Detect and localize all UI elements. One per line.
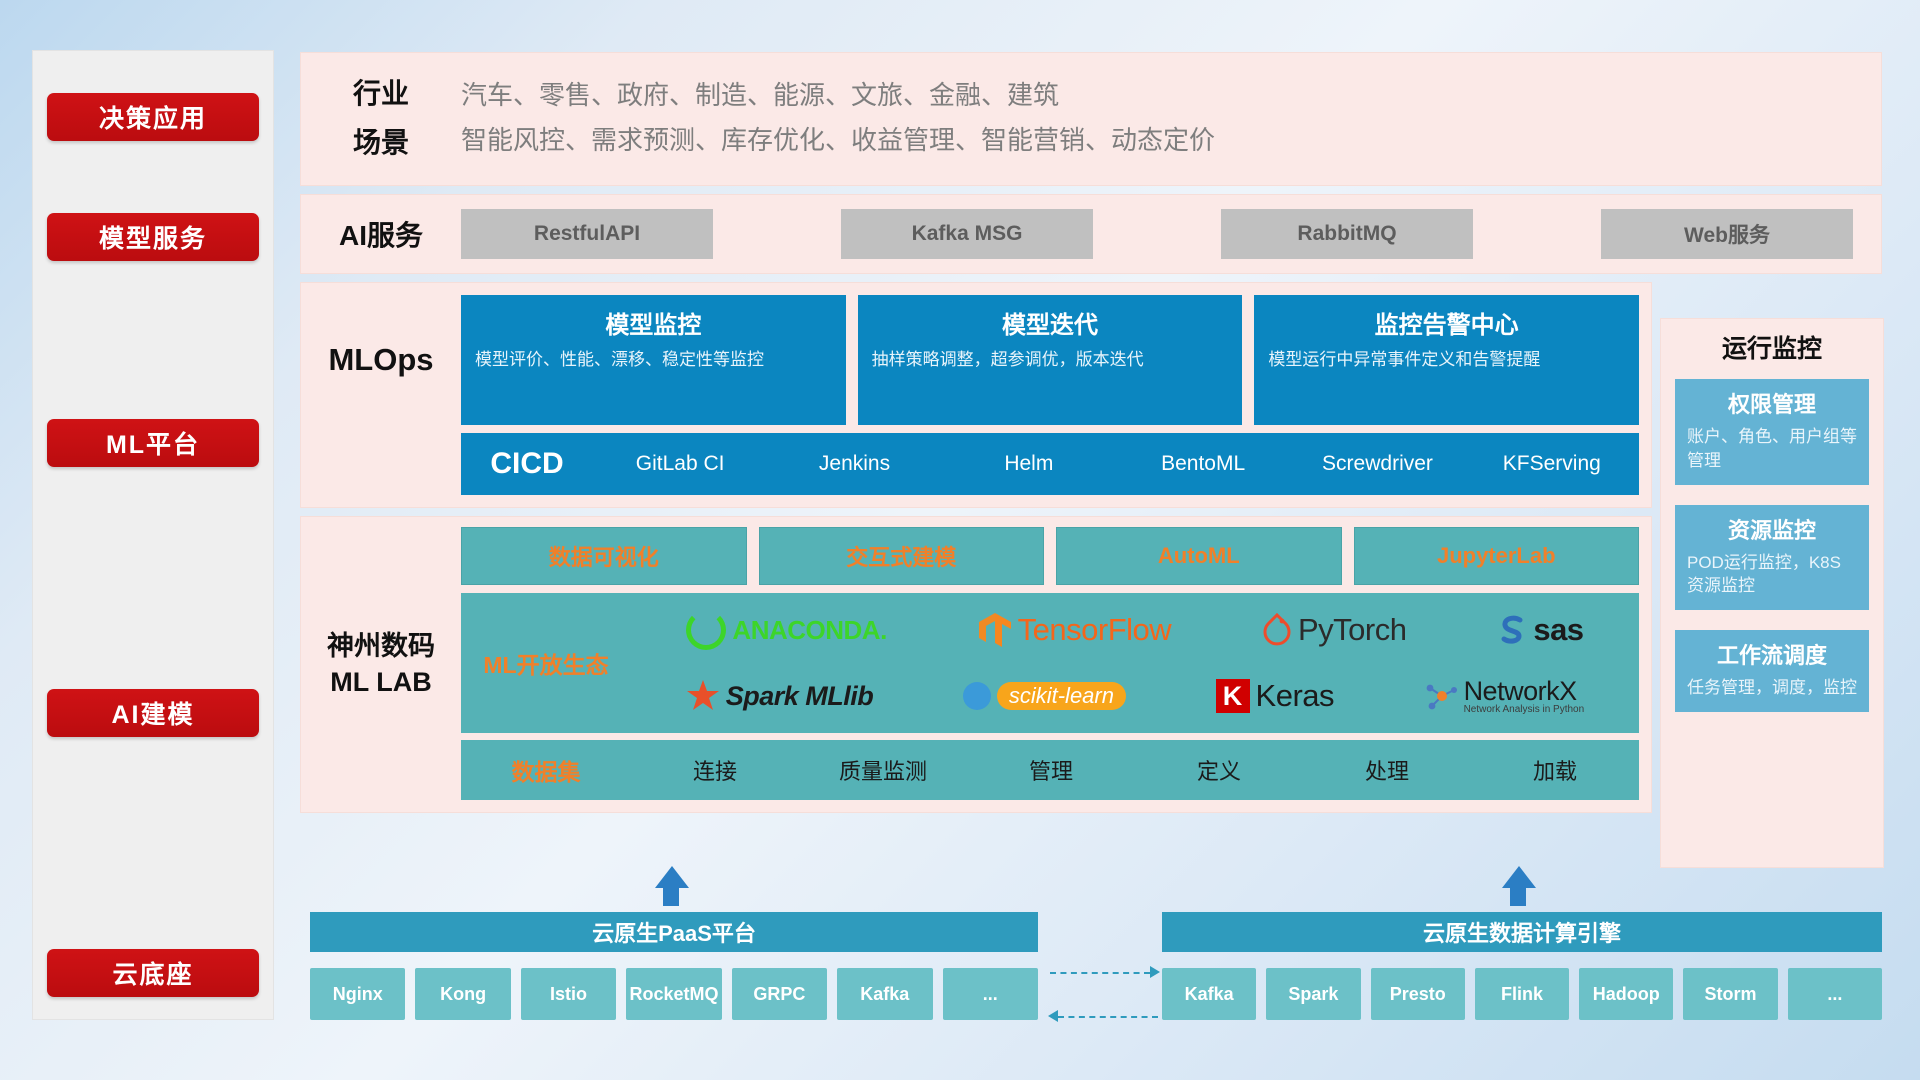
- left-rail: 决策应用 模型服务 ML平台 AI建模 云底座: [32, 50, 274, 1020]
- card-desc: 账户、角色、用户组等管理: [1687, 425, 1857, 473]
- card-desc: 模型运行中异常事件定义和告警提醒: [1268, 348, 1625, 373]
- ml-ecosystem-logos: ANACONDA. TensorFlow: [631, 593, 1639, 733]
- logo-pytorch: PyTorch: [1262, 612, 1406, 648]
- ml-lab-label-line1: 神州数码: [327, 629, 435, 664]
- cicd-tool-helm[interactable]: Helm: [942, 433, 1116, 495]
- dataset-item-manage[interactable]: 管理: [967, 754, 1135, 786]
- industry-scenario-band: 行业 场景 汽车、零售、政府、制造、能源、文旅、金融、建筑 智能风控、需求预测、…: [300, 52, 1882, 186]
- card-title: 监控告警中心: [1268, 305, 1625, 340]
- engine-tag-hadoop[interactable]: Hadoop: [1579, 968, 1673, 1020]
- logo-sas: sas: [1497, 612, 1583, 648]
- arrow-up-paas-icon: [655, 866, 689, 888]
- rail-label: 决策应用: [99, 99, 207, 135]
- dataset-item-load[interactable]: 加载: [1471, 754, 1639, 786]
- mlops-label: MLOps: [301, 295, 461, 425]
- logo-label: PyTorch: [1298, 612, 1406, 648]
- logo-anaconda: ANACONDA.: [686, 610, 886, 650]
- logo-row-1: ANACONDA. TensorFlow: [641, 599, 1629, 661]
- rail-label: 云底座: [112, 955, 193, 991]
- cloud-base-section: 云原生PaaS平台 Nginx Kong Istio RocketMQ GRPC…: [310, 888, 1882, 1058]
- dataset-item-connect[interactable]: 连接: [631, 754, 799, 786]
- main-column: 行业 场景 汽车、零售、政府、制造、能源、文旅、金融、建筑 智能风控、需求预测、…: [300, 52, 1882, 821]
- chip-label: Kafka MSG: [912, 222, 1023, 246]
- logo-row-2: Spark MLlib scikit-learn K Keras: [641, 665, 1629, 727]
- ai-service-chip-restfulapi[interactable]: RestfulAPI: [461, 209, 713, 259]
- card-desc: 模型评价、性能、漂移、稳定性等监控: [475, 348, 832, 373]
- dashed-arrow-left-icon: [1048, 1010, 1058, 1022]
- paas-tag-more[interactable]: ...: [943, 968, 1038, 1020]
- engine-tag-kafka[interactable]: Kafka: [1162, 968, 1256, 1020]
- paas-tag-kafka[interactable]: Kafka: [837, 968, 932, 1020]
- card-title: 资源监控: [1687, 513, 1857, 545]
- monitoring-card-resource[interactable]: 资源监控 POD运行监控，K8S资源监控: [1675, 505, 1869, 611]
- logo-label: NetworkX: [1464, 678, 1585, 705]
- rail-label: ML平台: [106, 425, 200, 461]
- dashed-connector-left: [1058, 1016, 1158, 1018]
- monitoring-panel: 运行监控 权限管理 账户、角色、用户组等管理 资源监控 POD运行监控，K8S资…: [1660, 318, 1884, 868]
- diagram-canvas: 决策应用 模型服务 ML平台 AI建模 云底座 行业 场景 汽车、零售、政府、制…: [0, 0, 1920, 1080]
- networkx-subtitle: Network Analysis in Python: [1464, 705, 1585, 715]
- tab-label: 数据可视化: [549, 540, 659, 572]
- engine-tag-flink[interactable]: Flink: [1475, 968, 1569, 1020]
- ai-service-chip-kafka-msg[interactable]: Kafka MSG: [841, 209, 1093, 259]
- monitoring-title: 运行监控: [1661, 329, 1883, 365]
- logo-spark-mllib: Spark MLlib: [686, 679, 874, 713]
- cicd-tool-screwdriver[interactable]: Screwdriver: [1290, 433, 1464, 495]
- chip-label: RabbitMQ: [1297, 222, 1396, 246]
- rail-item-ai-modeling[interactable]: AI建模: [47, 689, 259, 737]
- card-desc: POD运行监控，K8S资源监控: [1687, 551, 1857, 599]
- card-title: 模型监控: [475, 305, 832, 340]
- logo-label: scikit-learn: [997, 682, 1126, 710]
- rail-label: 模型服务: [99, 219, 207, 255]
- scikit-dot-icon: [963, 682, 991, 710]
- mlops-card-alert-center[interactable]: 监控告警中心 模型运行中异常事件定义和告警提醒: [1254, 295, 1639, 425]
- sas-icon: [1497, 613, 1527, 647]
- industry-scenario-labels: 行业 场景: [301, 69, 461, 167]
- arrow-up-engine-icon: [1502, 866, 1536, 888]
- networkx-icon: [1424, 680, 1458, 712]
- ml-lab-body: 数据可视化 交互式建模 AutoML JupyterLab ML开放生态 ANA…: [461, 517, 1651, 812]
- paas-tag-rocketmq[interactable]: RocketMQ: [626, 968, 721, 1020]
- dataset-item-define[interactable]: 定义: [1135, 754, 1303, 786]
- logo-label: Spark MLlib: [726, 681, 874, 712]
- ai-service-chip-web-service[interactable]: Web服务: [1601, 209, 1853, 259]
- rail-label: AI建模: [111, 695, 194, 731]
- cicd-tool-gitlab-ci[interactable]: GitLab CI: [593, 433, 767, 495]
- ml-lab-band: 神州数码 ML LAB 数据可视化 交互式建模 AutoML JupyterLa…: [300, 516, 1652, 813]
- arrow-stem-paas: [663, 888, 679, 906]
- engine-title: 云原生数据计算引擎: [1162, 912, 1882, 952]
- ml-lab-label-line2: ML LAB: [327, 665, 435, 700]
- engine-tag-presto[interactable]: Presto: [1371, 968, 1465, 1020]
- tensorflow-icon: [978, 611, 1012, 649]
- logo-label: ANACONDA.: [732, 615, 886, 646]
- tab-interactive-modeling[interactable]: 交互式建模: [759, 527, 1045, 585]
- anaconda-icon: [686, 610, 726, 650]
- logo-networkx: NetworkX Network Analysis in Python: [1424, 678, 1585, 715]
- engine-tags: Kafka Spark Presto Flink Hadoop Storm ..…: [1162, 968, 1882, 1020]
- paas-group: 云原生PaaS平台 Nginx Kong Istio RocketMQ GRPC…: [310, 912, 1038, 1020]
- tab-label: 交互式建模: [846, 540, 956, 572]
- tab-label: AutoML: [1158, 543, 1240, 569]
- logo-scikit-learn: scikit-learn: [963, 682, 1126, 710]
- mlops-inner: MLOps 模型监控 模型评价、性能、漂移、稳定性等监控 模型迭代 抽样策略调整…: [301, 283, 1651, 507]
- arrow-stem-engine: [1510, 888, 1526, 906]
- scenario-values: 智能风控、需求预测、库存优化、收益管理、智能营销、动态定价: [461, 118, 1881, 164]
- rail-item-cloud-base[interactable]: 云底座: [47, 949, 259, 997]
- keras-icon: K: [1216, 679, 1250, 713]
- monitoring-card-workflow[interactable]: 工作流调度 任务管理，调度，监控: [1675, 630, 1869, 712]
- mlops-cards-row: MLOps 模型监控 模型评价、性能、漂移、稳定性等监控 模型迭代 抽样策略调整…: [301, 295, 1651, 425]
- ai-service-items: RestfulAPI Kafka MSG RabbitMQ Web服务: [461, 209, 1861, 259]
- mlops-band: MLOps 模型监控 模型评价、性能、漂移、稳定性等监控 模型迭代 抽样策略调整…: [300, 282, 1652, 508]
- tab-automl[interactable]: AutoML: [1056, 527, 1342, 585]
- chip-label: RestfulAPI: [534, 222, 640, 246]
- dataset-label: 数据集: [461, 753, 631, 787]
- industry-label: 行业: [301, 69, 461, 118]
- card-desc: 抽样策略调整，超参调优，版本迭代: [872, 348, 1229, 373]
- scenario-label: 场景: [301, 118, 461, 167]
- paas-tag-grpc[interactable]: GRPC: [732, 968, 827, 1020]
- cicd-tool-jenkins[interactable]: Jenkins: [767, 433, 941, 495]
- dataset-row: 数据集 连接 质量监测 管理 定义 处理 加载: [461, 740, 1639, 800]
- tab-label: JupyterLab: [1437, 543, 1556, 569]
- card-title: 模型迭代: [872, 305, 1229, 340]
- industry-values: 汽车、零售、政府、制造、能源、文旅、金融、建筑: [461, 73, 1881, 119]
- pytorch-icon: [1262, 613, 1292, 647]
- paas-tag-nginx[interactable]: Nginx: [310, 968, 405, 1020]
- ml-ecosystem-panel: ML开放生态 ANACONDA.: [461, 593, 1639, 733]
- rail-item-model-service[interactable]: 模型服务: [47, 213, 259, 261]
- ai-service-chip-rabbitmq[interactable]: RabbitMQ: [1221, 209, 1473, 259]
- card-title: 权限管理: [1687, 387, 1857, 419]
- paas-tags: Nginx Kong Istio RocketMQ GRPC Kafka ...: [310, 968, 1038, 1020]
- logo-label: TensorFlow: [1018, 612, 1172, 648]
- mlops-card-model-monitoring[interactable]: 模型监控 模型评价、性能、漂移、稳定性等监控: [461, 295, 846, 425]
- ml-ecosystem-label: ML开放生态: [461, 593, 631, 733]
- ai-service-label: AI服务: [301, 214, 461, 254]
- dataset-item-process[interactable]: 处理: [1303, 754, 1471, 786]
- mlops-cards: 模型监控 模型评价、性能、漂移、稳定性等监控 模型迭代 抽样策略调整，超参调优，…: [461, 295, 1651, 425]
- ai-service-band: AI服务 RestfulAPI Kafka MSG RabbitMQ Web服务: [300, 194, 1882, 274]
- rail-item-ml-platform[interactable]: ML平台: [47, 419, 259, 467]
- engine-group: 云原生数据计算引擎 Kafka Spark Presto Flink Hadoo…: [1162, 912, 1882, 1020]
- dataset-item-quality[interactable]: 质量监测: [799, 754, 967, 786]
- logo-tensorflow: TensorFlow: [978, 611, 1172, 649]
- card-title: 工作流调度: [1687, 638, 1857, 670]
- tab-data-visualization[interactable]: 数据可视化: [461, 527, 747, 585]
- logo-keras: K Keras: [1216, 678, 1334, 714]
- dashed-arrow-right-icon: [1150, 966, 1160, 978]
- industry-scenario-values: 汽车、零售、政府、制造、能源、文旅、金融、建筑 智能风控、需求预测、库存优化、收…: [461, 73, 1881, 164]
- ml-lab-tabs: 数据可视化 交互式建模 AutoML JupyterLab: [461, 527, 1639, 585]
- cicd-title: CICD: [461, 447, 593, 481]
- cicd-tool-kfserving[interactable]: KFServing: [1465, 433, 1639, 495]
- engine-tag-storm[interactable]: Storm: [1683, 968, 1777, 1020]
- tab-jupyterlab[interactable]: JupyterLab: [1354, 527, 1640, 585]
- cicd-tools: GitLab CI Jenkins Helm BentoML Screwdriv…: [593, 433, 1639, 495]
- dataset-items: 连接 质量监测 管理 定义 处理 加载: [631, 754, 1639, 786]
- mlops-card-model-iteration[interactable]: 模型迭代 抽样策略调整，超参调优，版本迭代: [858, 295, 1243, 425]
- card-desc: 任务管理，调度，监控: [1687, 676, 1857, 700]
- engine-tag-more[interactable]: ...: [1788, 968, 1882, 1020]
- ml-lab-label: 神州数码 ML LAB: [301, 517, 461, 812]
- engine-tag-spark[interactable]: Spark: [1266, 968, 1360, 1020]
- logo-label: sas: [1533, 612, 1583, 648]
- monitoring-card-permission[interactable]: 权限管理 账户、角色、用户组等管理: [1675, 379, 1869, 485]
- chip-label: Web服务: [1684, 219, 1770, 249]
- spark-icon: [686, 679, 720, 713]
- cicd-row: CICD GitLab CI Jenkins Helm BentoML Scre…: [461, 433, 1639, 495]
- rail-item-decision-app[interactable]: 决策应用: [47, 93, 259, 141]
- cicd-tool-bentoml[interactable]: BentoML: [1116, 433, 1290, 495]
- logo-label: Keras: [1256, 678, 1334, 714]
- paas-tag-istio[interactable]: Istio: [521, 968, 616, 1020]
- paas-title: 云原生PaaS平台: [310, 912, 1038, 952]
- dashed-connector-right: [1050, 972, 1150, 974]
- paas-tag-kong[interactable]: Kong: [415, 968, 510, 1020]
